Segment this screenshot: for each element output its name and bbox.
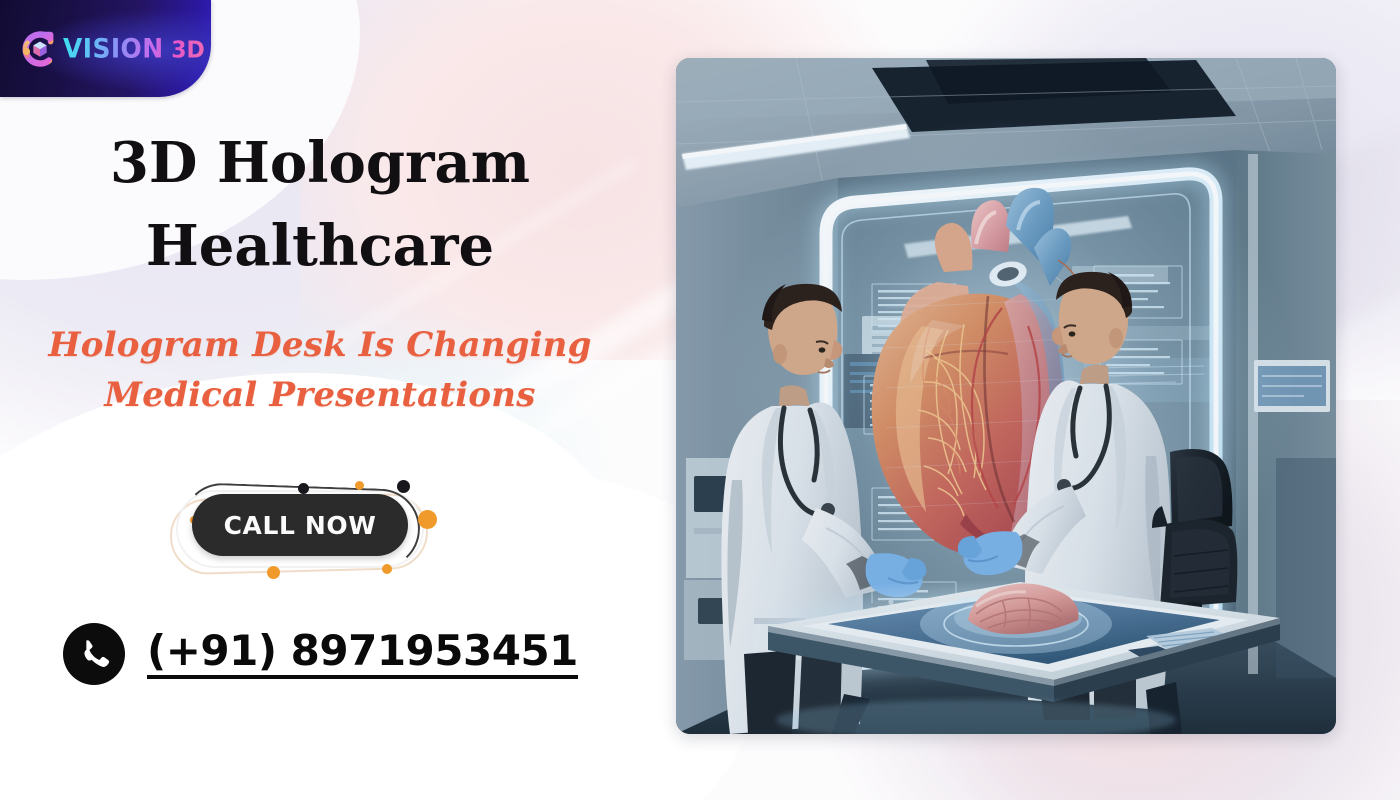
cta-dot-orange-top xyxy=(355,481,364,490)
headline-line-2: Healthcare xyxy=(0,205,640,288)
cta-dot-black-top xyxy=(298,483,309,494)
cta-dot-orange-bottom xyxy=(267,566,280,579)
contact-phone-row[interactable]: (+91) 8971953451 xyxy=(63,623,578,685)
cta-dot-orange-right-lg xyxy=(418,510,437,529)
phone-handset-icon xyxy=(63,623,125,685)
call-now-cta-group: CALL NOW xyxy=(170,478,438,582)
brand-logo-wordmark: VISION 3D xyxy=(63,35,205,62)
headline-line-1: 3D Hologram xyxy=(110,130,530,196)
brand-logo-word-vision: VISION xyxy=(63,33,164,63)
phone-number-text[interactable]: (+91) 8971953451 xyxy=(147,629,578,678)
brand-logo-inner: VISION 3D xyxy=(0,25,205,73)
cta-dot-black-topright xyxy=(397,480,410,493)
subhead-line-2: Medical Presentations xyxy=(0,370,640,420)
subhead-line-1: Hologram Desk Is Changing xyxy=(48,325,591,365)
cta-dot-orange-bottomright xyxy=(382,564,392,574)
hologram-healthcare-photo xyxy=(676,58,1336,734)
brand-logo-word-3d: 3D xyxy=(164,37,205,63)
page-title: 3D Hologram Healthcare xyxy=(0,122,640,288)
c-cube-logo-icon xyxy=(16,25,64,73)
brand-logo-badge[interactable]: VISION 3D xyxy=(0,0,211,97)
call-now-button-label: CALL NOW xyxy=(224,511,377,540)
call-now-button[interactable]: CALL NOW xyxy=(192,494,408,556)
page-subtitle: Hologram Desk Is Changing Medical Presen… xyxy=(0,320,640,421)
